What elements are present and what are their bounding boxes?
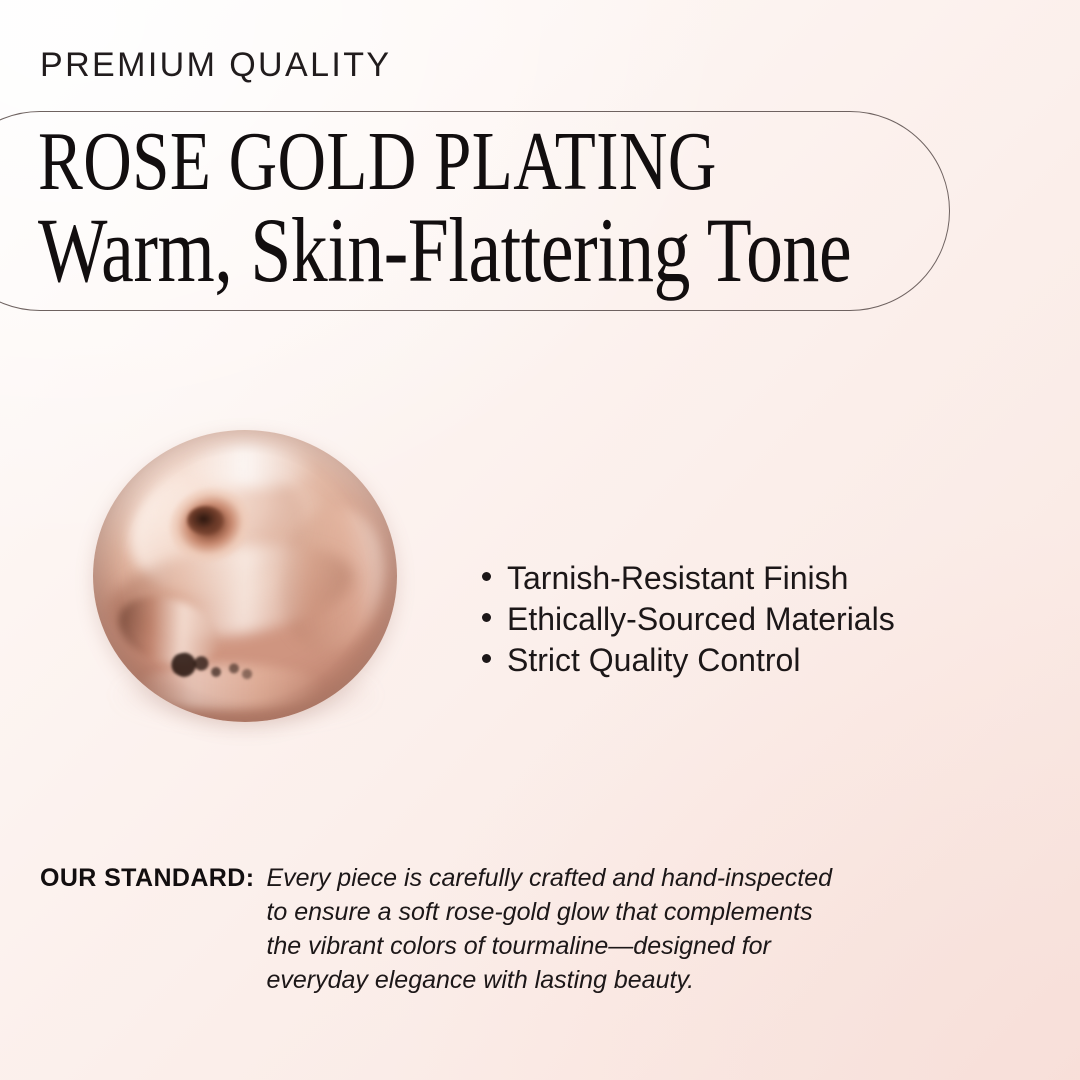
bullet-dot-icon [482, 654, 491, 663]
bullet-dot-icon [482, 572, 491, 581]
eyebrow-label: PREMIUM QUALITY [40, 46, 391, 85]
sphere-fold-lower-left [110, 585, 228, 678]
standard-statement-label: OUR STANDARD: [40, 861, 266, 895]
page-title: ROSE GOLD PLATING Warm, Skin-Flattering … [38, 120, 938, 296]
sphere-spiral-core [187, 506, 223, 535]
statement-line: to ensure a soft rose-gold glow that com… [266, 895, 1030, 929]
feature-label: Strict Quality Control [507, 640, 800, 681]
headline-line-1: ROSE GOLD PLATING [38, 120, 758, 203]
list-item: Ethically-Sourced Materials [482, 599, 1002, 640]
list-item: Tarnish-Resistant Finish [482, 558, 1002, 599]
headline-line-2: Warm, Skin-Flattering Tone [38, 205, 758, 296]
feature-list: Tarnish-Resistant Finish Ethically-Sourc… [482, 558, 1002, 681]
sphere-speckles [165, 647, 265, 689]
statement-line: the vibrant colors of tourmaline—designe… [266, 929, 1030, 963]
standard-statement: OUR STANDARD: Every piece is carefully c… [40, 861, 1030, 997]
sphere-top-sheen [184, 442, 318, 489]
list-item: Strict Quality Control [482, 640, 1002, 681]
sphere-spiral-ring [158, 476, 261, 574]
statement-line: Every piece is carefully crafted and han… [266, 861, 1030, 895]
sphere-band-middle [106, 530, 359, 651]
product-image-rose-gold-sphere [93, 430, 397, 722]
sphere-body [93, 430, 397, 722]
sphere-highlight-right [270, 498, 397, 660]
feature-label: Ethically-Sourced Materials [507, 599, 895, 640]
bullet-dot-icon [482, 613, 491, 622]
standard-statement-body: Every piece is carefully crafted and han… [266, 861, 1030, 997]
sphere-highlight-upper-left [117, 446, 319, 613]
statement-line: everyday elegance with lasting beauty. [266, 963, 1030, 997]
feature-label: Tarnish-Resistant Finish [507, 558, 848, 599]
